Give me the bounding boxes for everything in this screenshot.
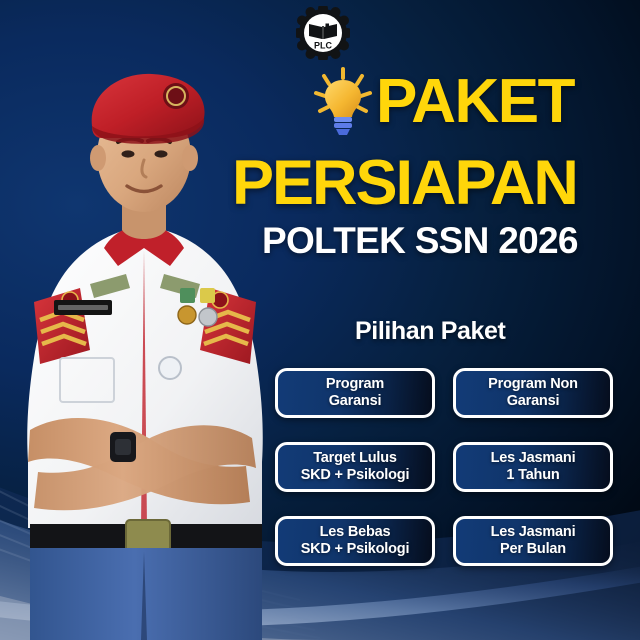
package-label: Program Garansi [326, 376, 384, 410]
package-button-target-lulus[interactable]: Target Lulus SKD + Psikologi [275, 442, 435, 492]
plc-logo-text: PLC [314, 41, 333, 51]
package-button-les-bebas[interactable]: Les Bebas SKD + Psikologi [275, 516, 435, 566]
package-button-les-jasmani-1-tahun[interactable]: Les Jasmani 1 Tahun [453, 442, 613, 492]
red-beret [92, 74, 205, 138]
ear-left [90, 145, 106, 171]
medal-ribbon-green [180, 288, 195, 303]
medal-gold [178, 306, 196, 324]
bulb-base-2 [334, 123, 352, 128]
cadet-illustration [0, 58, 294, 640]
package-label: Les Jasmani 1 Tahun [491, 450, 576, 484]
ear-right [182, 145, 198, 171]
badge-reel [159, 357, 181, 379]
bulb-glass [325, 80, 361, 117]
package-label: Program Non Garansi [488, 376, 578, 410]
lightbulb-icon [312, 65, 374, 139]
eye-right [155, 150, 168, 157]
package-button-program-garansi[interactable]: Program Garansi [275, 368, 435, 418]
headline-line-paket: PAKET [318, 66, 640, 138]
eye-left [122, 150, 135, 157]
name-tag-text [58, 305, 108, 310]
package-button-les-jasmani-per-bulan[interactable]: Les Jasmani Per Bulan [453, 516, 613, 566]
headline-paket: PAKET [376, 71, 574, 133]
headline-persiapan: PERSIAPAN [232, 152, 577, 215]
headline-subtitle: POLTEK SSN 2026 [262, 222, 578, 259]
medal-silver [199, 308, 217, 326]
medal-ribbon-yellow [200, 288, 215, 303]
package-label: Target Lulus SKD + Psikologi [301, 450, 410, 484]
section-heading: Pilihan Paket [355, 317, 505, 346]
package-options-grid: Program Garansi Program Non Garansi Targ… [275, 368, 633, 566]
watch-face [115, 439, 131, 455]
plc-book-badge-icon: PLC [296, 6, 350, 60]
bulb-base-3 [336, 129, 350, 135]
cadet-photo [0, 58, 294, 640]
plc-logo: PLC [296, 6, 350, 60]
package-label: Les Jasmani Per Bulan [491, 524, 576, 558]
package-button-program-non-garansi[interactable]: Program Non Garansi [453, 368, 613, 418]
package-label: Les Bebas SKD + Psikologi [301, 524, 410, 558]
bulb-base-1 [334, 117, 352, 122]
headline-block: PAKET [318, 66, 640, 138]
promo-poster: PLC [0, 0, 640, 640]
